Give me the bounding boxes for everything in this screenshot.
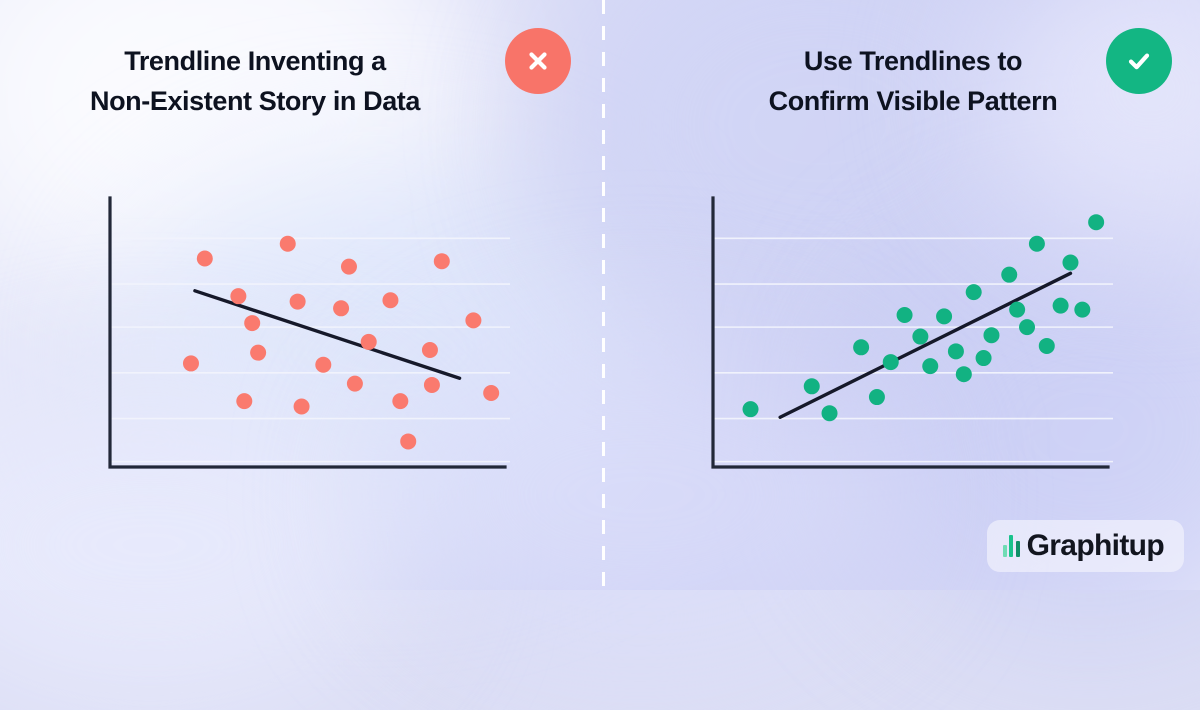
data-point xyxy=(244,315,260,331)
data-point xyxy=(966,284,982,300)
data-point xyxy=(1062,255,1078,271)
data-point xyxy=(1001,267,1017,283)
scatter-points xyxy=(183,236,499,450)
data-point xyxy=(382,292,398,308)
data-point xyxy=(1039,338,1055,354)
data-point xyxy=(341,259,357,275)
data-point xyxy=(1074,302,1090,318)
data-point xyxy=(230,288,246,304)
trendline xyxy=(780,273,1070,417)
data-point xyxy=(822,405,838,421)
data-point xyxy=(1009,302,1025,318)
data-point xyxy=(922,358,938,374)
data-point xyxy=(1029,236,1045,252)
data-point xyxy=(956,366,972,382)
data-point xyxy=(869,389,885,405)
data-point xyxy=(434,253,450,269)
scatter-points xyxy=(743,214,1105,421)
data-point xyxy=(361,334,377,350)
data-point xyxy=(1088,214,1104,230)
bar-chart-icon xyxy=(1003,535,1020,557)
data-point xyxy=(983,327,999,343)
data-point xyxy=(197,251,213,267)
data-point xyxy=(183,355,199,371)
data-point xyxy=(897,307,913,323)
data-point xyxy=(424,377,440,393)
data-point xyxy=(236,393,252,409)
data-point xyxy=(280,236,296,252)
data-point xyxy=(315,357,331,373)
panel-good-example: Use Trendlines to Confirm Visible Patter… xyxy=(603,0,1200,590)
data-point xyxy=(392,393,408,409)
data-point xyxy=(400,433,416,449)
scatter-chart-good xyxy=(603,0,1200,590)
data-point xyxy=(422,342,438,358)
panel-bad-example: Trendline Inventing a Non-Existent Story… xyxy=(0,0,602,590)
data-point xyxy=(853,339,869,355)
data-point xyxy=(290,294,306,310)
data-point xyxy=(1019,319,1035,335)
data-point xyxy=(936,308,952,324)
data-point xyxy=(465,312,481,328)
data-point xyxy=(333,300,349,316)
data-point xyxy=(294,398,310,414)
data-point xyxy=(804,378,820,394)
data-point xyxy=(976,350,992,366)
data-point xyxy=(483,385,499,401)
brand-logo: Graphitup xyxy=(987,520,1184,572)
data-point xyxy=(883,354,899,370)
data-point xyxy=(250,345,266,361)
brand-name: Graphitup xyxy=(1027,531,1164,561)
data-point xyxy=(1053,298,1069,314)
data-point xyxy=(948,343,964,359)
scatter-chart-bad xyxy=(0,0,597,590)
data-point xyxy=(743,401,759,417)
data-point xyxy=(347,376,363,392)
data-point xyxy=(912,329,928,345)
